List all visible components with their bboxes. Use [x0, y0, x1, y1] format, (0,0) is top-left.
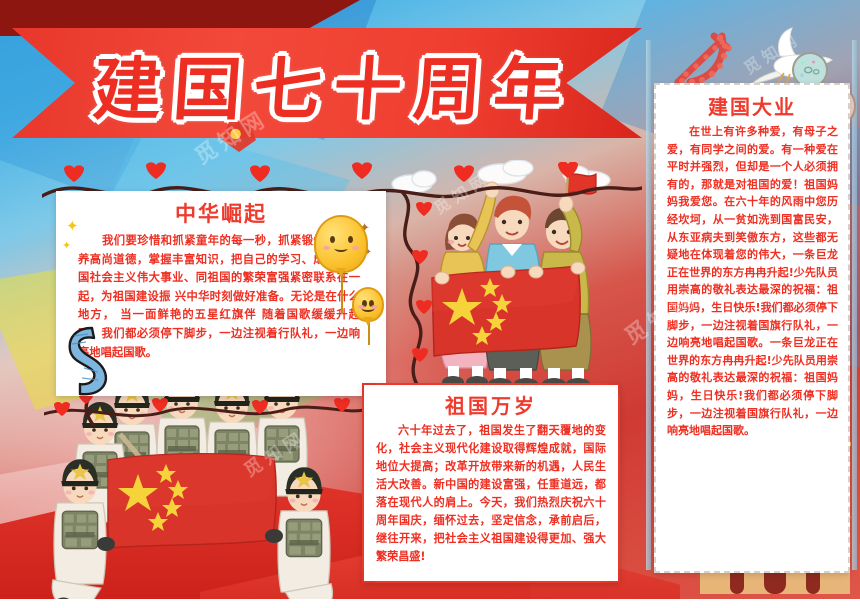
hearts-row-bottom — [44, 398, 364, 432]
decorative-pole — [646, 40, 651, 570]
corner-ornament — [362, 570, 375, 583]
corner-ornament — [607, 383, 620, 396]
card-jianguo-daye: 建国大业 在世上有许多种爱，有母子之爱，有同学之间的爱。有一种爱在平时并强烈，但… — [654, 83, 850, 573]
smiley-balloon-icon — [314, 215, 368, 273]
sparkle-icon: ✦ — [66, 217, 79, 235]
bottom-strip — [0, 599, 860, 608]
card-zuguo-wansui: 祖国万岁 六十年过去了，祖国发生了翻天覆地的变化，社会主义现代化建设取得辉煌成就… — [362, 383, 620, 583]
card-right-body: 在世上有许多种爱，有母子之爱，有同学之间的爱。有一种爱在平时并强烈，但却是一个人… — [656, 120, 848, 440]
corner-ornament — [607, 570, 620, 583]
poster-canvas: 中华人民共和国万岁 — [0, 0, 860, 608]
card-mid-title: 祖国万岁 — [364, 390, 618, 419]
balloon-string — [341, 272, 343, 314]
corner-ornament — [362, 383, 375, 396]
page-title: 建国七十周年 — [77, 34, 578, 133]
card-mid-body: 六十年过去了，祖国发生了翻天覆地的变化，社会主义现代化建设取得辉煌成就，国际地位… — [364, 419, 618, 566]
blue-ribbon-icon — [58, 324, 116, 398]
card-right-title: 建国大业 — [656, 91, 848, 120]
sparkle-icon: ✦ — [62, 239, 71, 252]
hearts-wave-right — [382, 190, 436, 414]
smiley-balloon-icon — [352, 287, 384, 322]
title-banner: 建国七十周年 — [12, 28, 642, 138]
